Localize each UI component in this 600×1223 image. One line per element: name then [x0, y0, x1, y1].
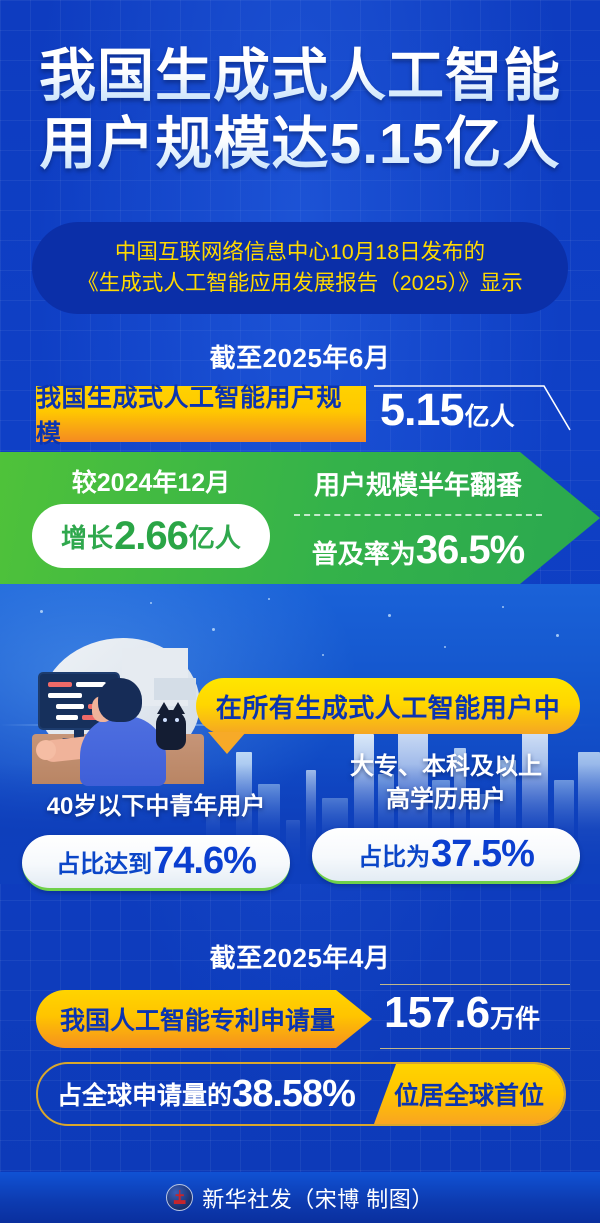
subtitle-capsule: 中国互联网络信息中心10月18日发布的 《生成式人工智能应用发展报告（2025）… [32, 222, 568, 314]
user-scale-value: 5.15 亿人 [380, 384, 570, 444]
user-scale-unit: 亿人 [465, 397, 515, 433]
user-scale-row: 我国生成式人工智能用户规模 5.15 亿人 [36, 386, 566, 442]
asof-label-april: 截至2025年4月 [0, 938, 600, 975]
growth-doubled-label: 用户规模半年翻番 [288, 465, 548, 502]
global-share-left: 占全球申请量的38.58% [38, 1064, 374, 1124]
cat-icon [156, 710, 186, 750]
patent-rule-top [380, 984, 570, 985]
global-rank-label: 位居全球首位 [374, 1064, 564, 1124]
growth-value-pill: 增长 2.66 亿人 [32, 504, 270, 568]
footer-credit-text: 新华社发（宋博 制图） [202, 1182, 434, 1214]
penetration-prefix: 普及率为 [312, 539, 416, 569]
stat-label-educated-2: 高学历用户 [312, 783, 580, 816]
stat-educated-number: 37.5% [431, 833, 534, 876]
growth-unit: 亿人 [189, 518, 241, 555]
xinhua-logo-icon [166, 1184, 193, 1211]
stat-pill-young: 占比达到 74.6% [22, 835, 290, 891]
person-head [98, 678, 142, 722]
title-line-1: 我国生成式人工智能 [0, 42, 600, 110]
stat-label-young: 40岁以下中青年用户 [22, 790, 290, 823]
subtitle-line-2: 《生成式人工智能应用发展报告（2025）》显示 [77, 268, 523, 299]
footer-credit-bar: 新华社发（宋博 制图） [0, 1172, 600, 1223]
growth-compare-label: 较2024年12月 [22, 463, 280, 499]
patent-unit: 万件 [490, 999, 540, 1035]
patent-value: 157.6 万件 [384, 988, 574, 1050]
growth-arrow-banner: 较2024年12月 增长 2.66 亿人 用户规模半年翻番 普及率为36.5% [0, 452, 600, 584]
patent-number: 157.6 [384, 988, 489, 1038]
cat-eye-left [163, 718, 167, 722]
title-line-2: 用户规模达5.15亿人 [0, 110, 600, 178]
patent-row: 我国人工智能专利申请量 157.6 万件 [36, 990, 566, 1048]
stat-pill-educated: 占比为 37.5% [312, 828, 580, 884]
growth-right-group: 用户规模半年翻番 普及率为36.5% [288, 452, 548, 584]
subtitle-line-1: 中国互联网络信息中心10月18日发布的 [115, 237, 485, 268]
users-callout-text: 在所有生成式人工智能用户中 [216, 688, 561, 725]
stat-educated-prefix: 占比为 [358, 837, 430, 872]
page-title: 我国生成式人工智能 用户规模达5.15亿人 [0, 42, 600, 178]
asof-label-june: 截至2025年6月 [0, 338, 600, 375]
user-scale-number: 5.15 [380, 384, 464, 436]
patent-badge: 我国人工智能专利申请量 [36, 990, 372, 1048]
person-body [80, 716, 166, 786]
global-share-pill: 占全球申请量的38.58% 位居全球首位 [36, 1062, 566, 1126]
callout-tail-icon [208, 732, 246, 754]
penetration-number: 36.5% [416, 528, 524, 572]
growth-prefix: 增长 [61, 518, 113, 555]
stat-young-number: 74.6% [153, 840, 256, 883]
user-at-computer-illustration [14, 634, 214, 784]
global-share-number: 38.58% [232, 1073, 355, 1116]
user-scale-badge: 我国生成式人工智能用户规模 [36, 386, 366, 442]
growth-number: 2.66 [114, 514, 188, 559]
stat-card-young-users: 40岁以下中青年用户 占比达到 74.6% [22, 790, 290, 891]
global-share-prefix: 占全球申请量的 [57, 1076, 232, 1112]
stat-card-educated-users: 大专、本科及以上 高学历用户 占比为 37.5% [312, 750, 580, 884]
person-hand [36, 740, 56, 760]
users-callout-banner: 在所有生成式人工智能用户中 [196, 678, 580, 734]
illustration-wall-accent [154, 678, 196, 700]
penetration-rate-line: 普及率为36.5% [288, 528, 548, 573]
dashed-divider [294, 514, 542, 516]
xinhua-logo-mark [173, 1190, 186, 1204]
growth-left-group: 较2024年12月 增长 2.66 亿人 [22, 452, 280, 584]
cat-eye-right [175, 718, 179, 722]
stat-young-prefix: 占比达到 [56, 844, 152, 879]
stat-label-educated-1: 大专、本科及以上 [312, 750, 580, 783]
